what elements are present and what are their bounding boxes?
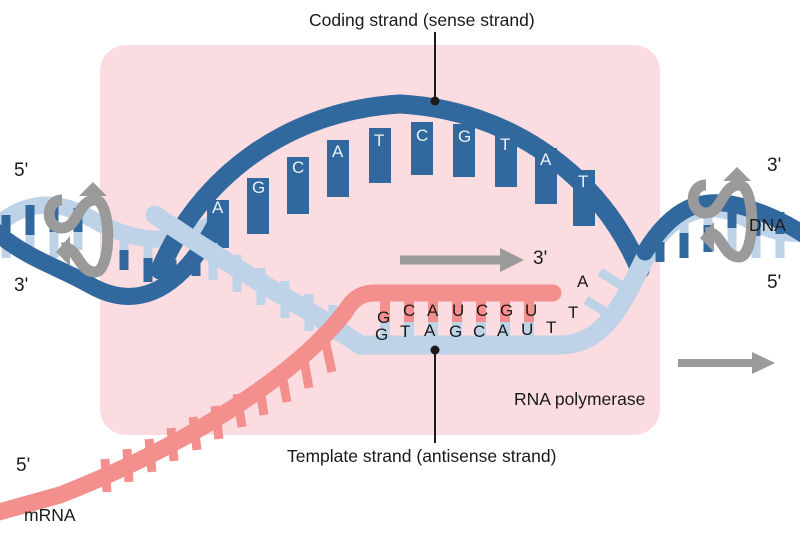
template-base-0: G — [375, 325, 388, 345]
mrna-label: mRNA — [24, 505, 76, 526]
coding-base-8: A — [540, 150, 551, 170]
coding-base-6: G — [458, 127, 471, 147]
template-rising-base-0: T — [568, 303, 578, 323]
prime-label-right-bottom: 5' — [767, 272, 781, 294]
prime-label-left-bottom: 3' — [14, 275, 28, 297]
polymerase-movement-arrow — [678, 352, 775, 374]
mrna-base-4: C — [476, 301, 488, 321]
mrna-base-5: G — [500, 301, 513, 321]
rna-polymerase-label: RNA polymerase — [514, 389, 645, 410]
coding-base-5: C — [416, 126, 428, 146]
template-base-3: G — [449, 322, 462, 342]
prime-label-mrna: 5' — [16, 455, 30, 477]
template-strand-label: Template strand (antisense strand) — [287, 446, 556, 467]
template-base-2: A — [424, 321, 435, 341]
prime-label-bubble: 3' — [533, 248, 547, 270]
template-base-4: C — [473, 322, 485, 342]
coding-base-3: A — [332, 142, 343, 162]
mrna-base-6: U — [525, 301, 537, 321]
coding-base-1: G — [252, 178, 265, 198]
prime-label-right-top: 3' — [767, 155, 781, 177]
mrna-base-3: U — [452, 301, 464, 321]
mrna-base-2: A — [427, 301, 438, 321]
template-base-6: U — [521, 320, 533, 340]
dna-label: DNA — [749, 215, 786, 236]
template-base-1: T — [400, 322, 410, 342]
template-base-5: A — [497, 321, 508, 341]
coding-base-4: T — [374, 131, 384, 151]
mrna-base-1: C — [403, 301, 415, 321]
template-rising-base-1: A — [577, 272, 588, 292]
coding-base-2: C — [292, 158, 304, 178]
coding-strand-label: Coding strand (sense strand) — [309, 10, 535, 31]
prime-label-left-top: 5' — [14, 160, 28, 182]
coding-base-7: T — [500, 135, 510, 155]
coding-base-9: T — [578, 172, 588, 192]
coding-base-0: A — [212, 198, 223, 218]
transcription-diagram: Coding strand (sense strand) Template st… — [0, 0, 800, 533]
template-base-7: T — [546, 318, 556, 338]
